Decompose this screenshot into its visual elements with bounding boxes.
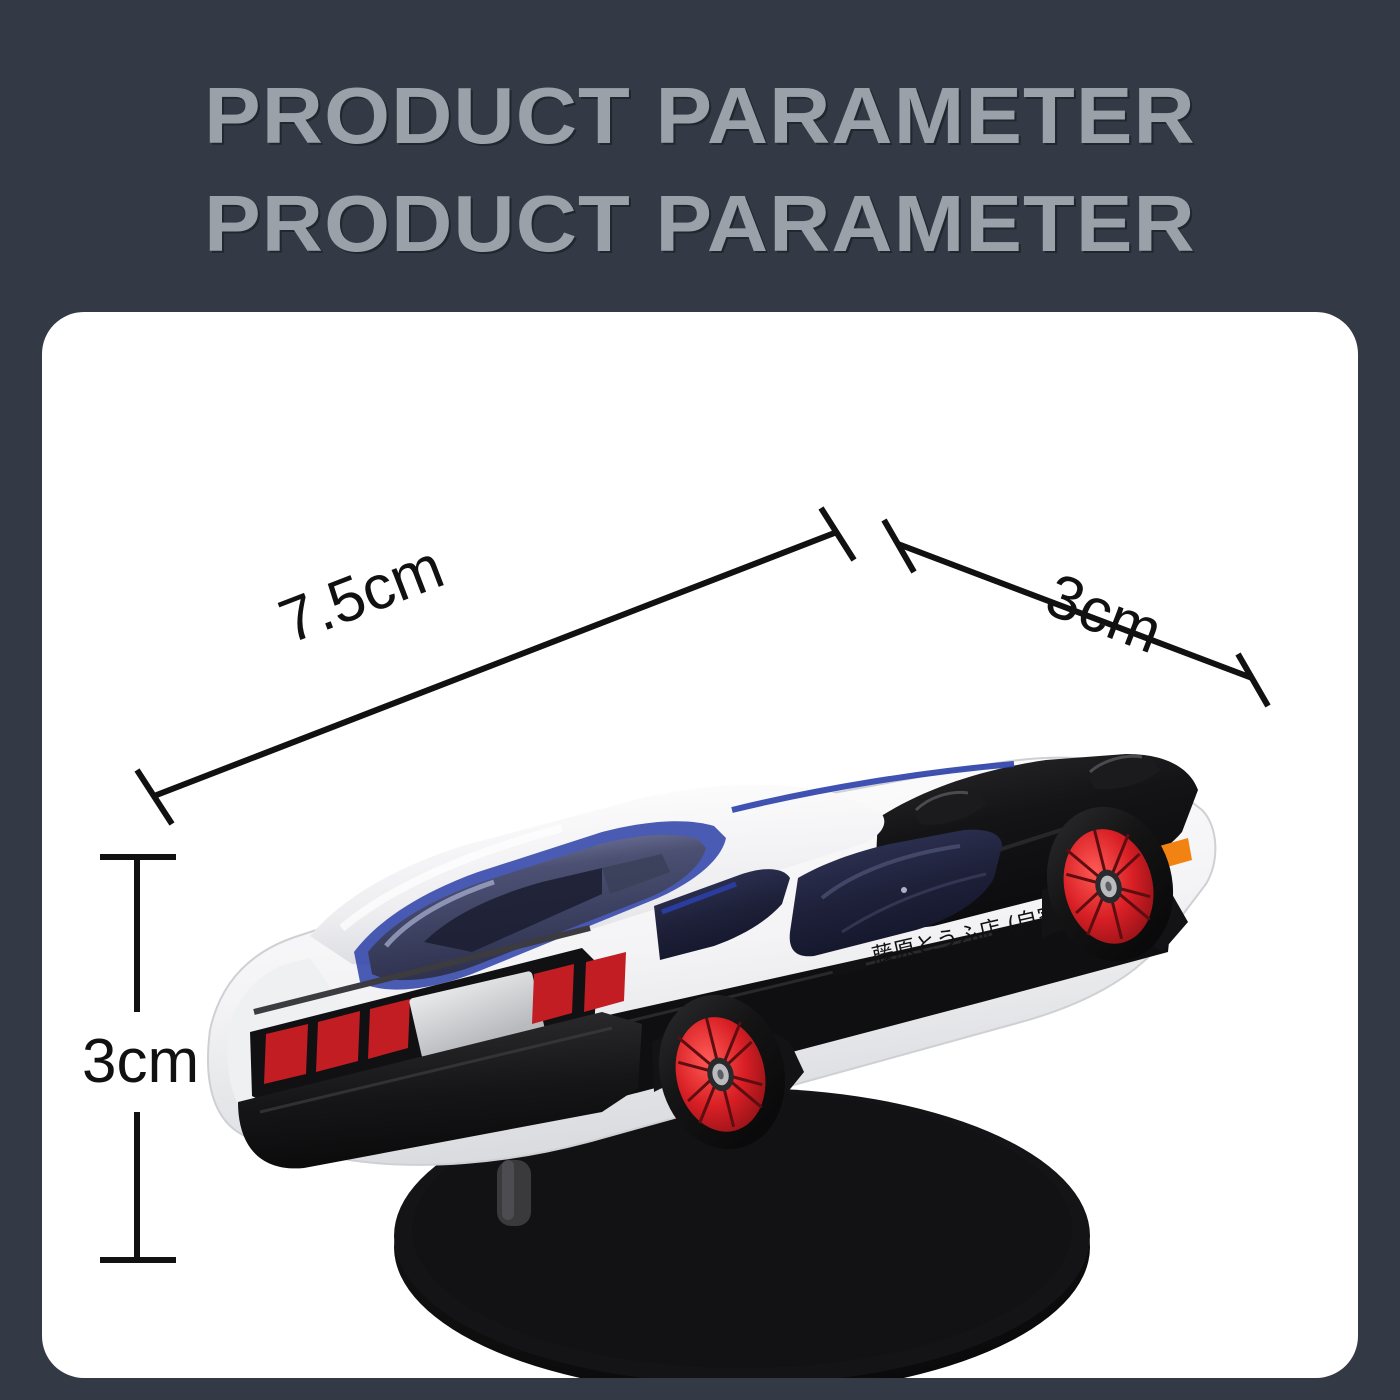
title-line-1: PRODUCT PARAMETER bbox=[0, 62, 1400, 170]
width-label: 3cm bbox=[1037, 561, 1171, 667]
dimension-length bbox=[137, 508, 854, 824]
product-photo-stage: 藤原とうふ店 (自家用) bbox=[42, 312, 1358, 1378]
product-image-card: 藤原とうふ店 (自家用) bbox=[42, 312, 1358, 1378]
page-title: PRODUCT PARAMETER PRODUCT PARAMETER bbox=[0, 62, 1400, 278]
title-line-2: PRODUCT PARAMETER bbox=[0, 170, 1400, 278]
length-label: 7.5cm bbox=[270, 532, 452, 657]
height-label: 3cm bbox=[82, 1027, 199, 1096]
product-illustration: 藤原とうふ店 (自家用) bbox=[42, 312, 1358, 1378]
model-car: 藤原とうふ店 (自家用) bbox=[208, 754, 1215, 1168]
